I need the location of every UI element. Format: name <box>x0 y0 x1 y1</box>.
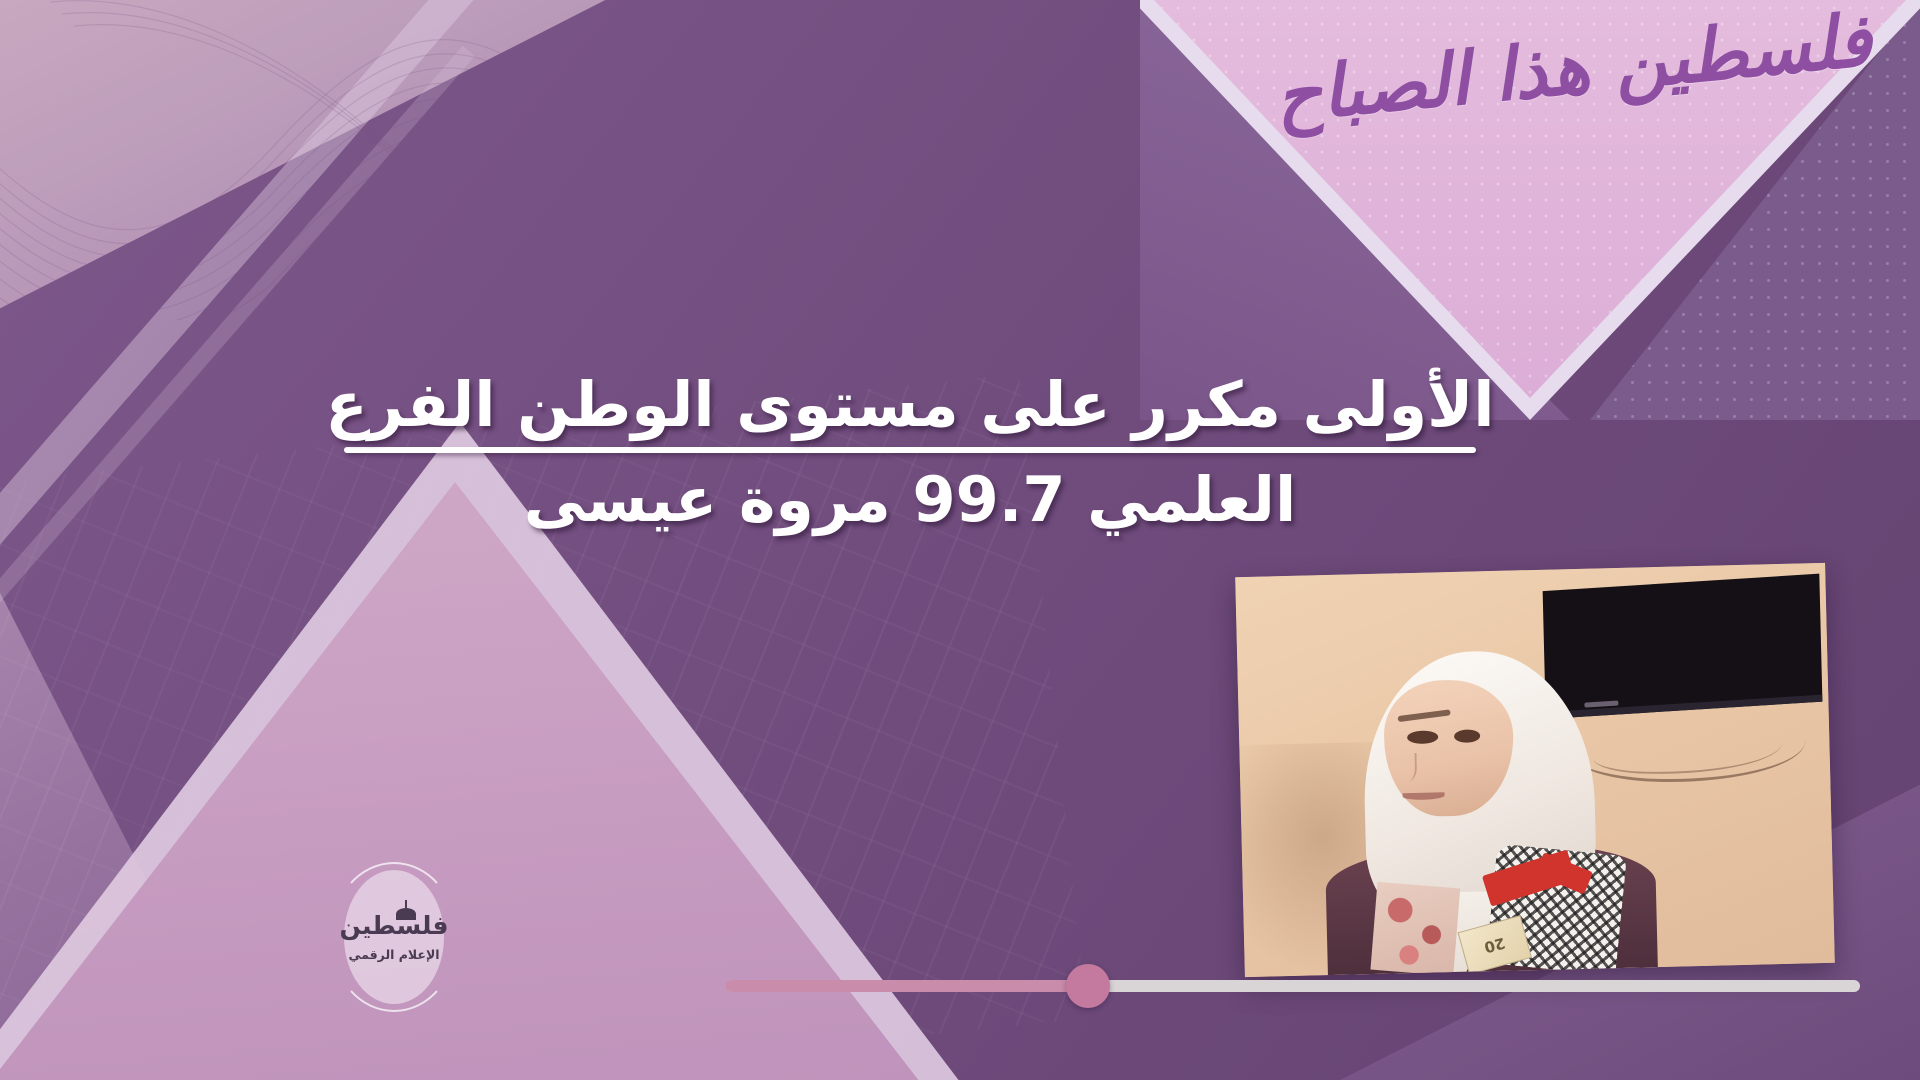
progress-fill <box>725 980 1088 992</box>
progress-knob-handle[interactable] <box>1066 964 1110 1008</box>
watermark-subtitle: الإعلام الرقمي <box>348 947 439 962</box>
person-nose <box>1399 753 1417 781</box>
headline-block: الأولى مكرر على مستوى الوطن الفرع العلمي… <box>320 368 1500 536</box>
headline-line-1: الأولى مكرر على مستوى الوطن الفرع <box>320 368 1500 441</box>
headline-line-2: العلمي 99.7 مروة عيسى <box>320 463 1500 536</box>
video-overlay-canvas: فلسطين هذا الصباح الأولى مكرر على مستوى … <box>0 0 1920 1080</box>
video-thumbnail[interactable]: 20 <box>1235 563 1835 977</box>
wall-tv-screen <box>1542 574 1822 719</box>
watermark-title: فلسطين <box>339 913 448 938</box>
person-floral-scarf <box>1370 882 1459 976</box>
headline-underline <box>344 447 1477 453</box>
video-progress-bar[interactable] <box>725 980 1860 992</box>
banknote-value: 20 <box>1483 934 1508 957</box>
tv-brand-mark <box>1584 700 1618 707</box>
channel-watermark: فلسطين الإعلام الرقمي <box>330 862 458 1012</box>
